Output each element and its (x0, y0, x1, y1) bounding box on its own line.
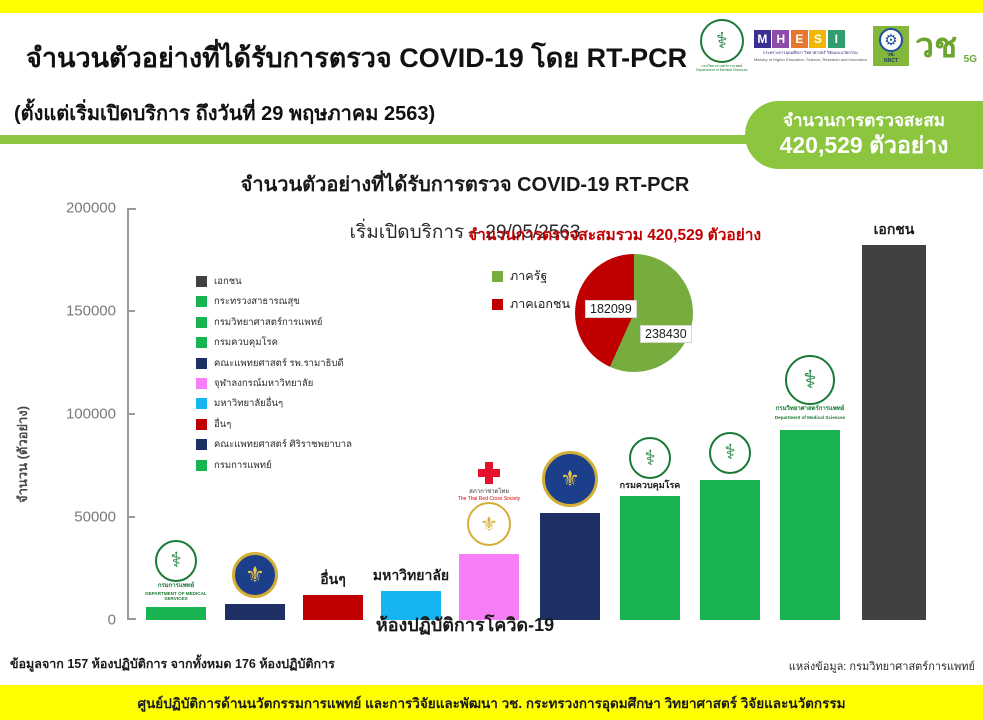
bar-series: ⚕กรมการแพทย์DEPARTMENT OF MEDICAL SERVIC… (0, 144, 983, 649)
page-subtitle: (ตั้งแต่เริ่มเปิดบริการ ถึงวันที่ 29 พฤษ… (14, 97, 435, 129)
chulalongkorn-seal-icon: ⚜ (467, 502, 511, 546)
mhesi-letter-h: H (772, 30, 789, 48)
mhesi-letter-blocks: M H E S I (754, 30, 867, 48)
mhesi-letter-s: S (809, 30, 826, 48)
caduceus-icon: ⚕ (785, 355, 835, 405)
pie-legend-swatch-icon (492, 299, 503, 310)
badge-label: จำนวนการตรวจสะสม (783, 112, 945, 131)
mahidol-university-seal: ⚜ (532, 451, 608, 507)
nrct-emblem-icon: ⚙ (879, 28, 903, 52)
mhesi-letter-i: I (828, 30, 845, 48)
bar-rect (700, 480, 760, 620)
footnote-source: แหล่งข้อมูล: กรมวิทยาศาสตร์การแพทย์ (789, 657, 975, 675)
nrct-5g-sub: 5G (964, 54, 977, 65)
logo-row: ⚕ กรมวิทยาศาสตร์การแพทย์ Department of M… (696, 19, 977, 73)
pie-legend-item: ภาคเอกชน (492, 294, 570, 314)
bar-rect (780, 430, 840, 620)
dmsc-logo: ⚕ กรมวิทยาศาสตร์การแพทย์ Department of M… (696, 19, 748, 73)
caduceus-icon: ⚕ (155, 540, 197, 582)
caduceus-icon: ⚕ (629, 437, 671, 479)
pie-chart-title: จำนวนการตรวจสะสมรวม 420,529 ตัวอย่าง (468, 222, 768, 247)
y-tick-mark (127, 516, 135, 518)
pie-value-private: 182099 (585, 300, 637, 318)
y-tick-mark (127, 310, 135, 312)
red-cross-icon (478, 462, 500, 484)
bottom-accent-bar: ศูนย์ปฏิบัติการด้านนวัตกรรมการแพทย์ และก… (0, 685, 983, 720)
bar-rect (620, 496, 680, 620)
red-cross-caption-en: The Thai Red Cross Society (449, 496, 529, 502)
thai-red-cross-logo: สภากาชาดไทยThe Thai Red Cross Society⚜ (449, 462, 529, 546)
pie-legend-item: ภาครัฐ (492, 266, 570, 286)
nrct-5g-logo: วช 5G (915, 24, 977, 68)
pie-legend: ภาครัฐภาคเอกชน (492, 266, 570, 322)
bar[interactable] (862, 245, 926, 620)
bar-logo-caption: กรมควบคุมโรค (611, 480, 689, 491)
footnote-lab-count: ข้อมูลจาก 157 ห้องปฏิบัติการ จากทั้งหมด … (10, 654, 335, 674)
pie-legend-label: ภาคเอกชน (510, 294, 570, 314)
mhesi-logo: M H E S I กระทรวงการอุดมศึกษา วิทยาศาสตร… (754, 30, 867, 62)
ministry-of-public-health-logo: ⚕กรมการแพทย์DEPARTMENT OF MEDICAL SERVIC… (137, 540, 215, 602)
y-tick-mark (127, 413, 135, 415)
caduceus-icon: ⚕ (709, 432, 751, 474)
bar-logo-caption: กรมการแพทย์ (137, 583, 215, 590)
bar-rect (862, 245, 926, 620)
caduceus-icon: ⚕ (700, 19, 744, 63)
bar[interactable] (780, 430, 840, 620)
red-cross-caption: สภากาชาดไทยThe Thai Red Cross Society (449, 486, 529, 502)
bar-logo-caption-en: Department of Medical Sciences (767, 415, 853, 421)
top-accent-bar (0, 0, 983, 13)
pie-legend-swatch-icon (492, 271, 503, 282)
nrct-caption-en: NRCT (874, 58, 908, 64)
mahidol-university-seal: ⚜ (222, 552, 288, 598)
bar-category-label: อื่นๆ (320, 569, 346, 591)
pie-value-public: 238430 (640, 325, 692, 343)
pie-legend-label: ภาครัฐ (510, 266, 547, 286)
mahidol-emblem-icon: ⚜ (232, 552, 278, 598)
ministry-of-public-health-logo: ⚕กรมวิทยาศาสตร์การแพทย์Department of Med… (767, 355, 853, 420)
bottom-bar-text: ศูนย์ปฏิบัติการด้านนวัตกรรมการแพทย์ และก… (138, 692, 846, 714)
bar-category-label: มหาวิทยาลัย (373, 565, 449, 587)
bar[interactable] (540, 513, 600, 620)
mhesi-letter-e: E (791, 30, 808, 48)
bar-logo-caption: กรมวิทยาศาสตร์การแพทย์ (767, 406, 853, 413)
ministry-of-public-health-logo: ⚕ (691, 432, 769, 474)
dmsc-logo-caption: กรมวิทยาศาสตร์การแพทย์ Department of Med… (696, 64, 748, 73)
mhesi-letter-m: M (754, 30, 771, 48)
bar-rect (540, 513, 600, 620)
nrct-logo: ⚙ วช. NRCT (873, 26, 909, 66)
mahidol-emblem-icon: ⚜ (542, 451, 598, 507)
bar[interactable] (700, 480, 760, 620)
bar-logo-caption-en: DEPARTMENT OF MEDICAL SERVICES (137, 591, 215, 602)
bar-chart: จำนวนตัวอย่างที่ได้รับการตรวจ COVID-19 R… (0, 144, 983, 649)
bar-category-label-private: เอกชน (874, 219, 915, 241)
bar[interactable] (620, 496, 680, 620)
ministry-of-public-health-logo: ⚕กรมควบคุมโรค (611, 437, 689, 491)
mhesi-caption-th: กระทรวงการอุดมศึกษา วิทยาศาสตร์ วิจัยและ… (754, 50, 867, 55)
page-title: จำนวนตัวอย่างที่ได้รับการตรวจ COVID-19 โ… (26, 36, 687, 79)
mhesi-caption-en: Ministry of Higher Education, Science, R… (754, 57, 867, 62)
x-axis-title: ห้องปฏิบัติการโควิด-19 (0, 610, 930, 639)
